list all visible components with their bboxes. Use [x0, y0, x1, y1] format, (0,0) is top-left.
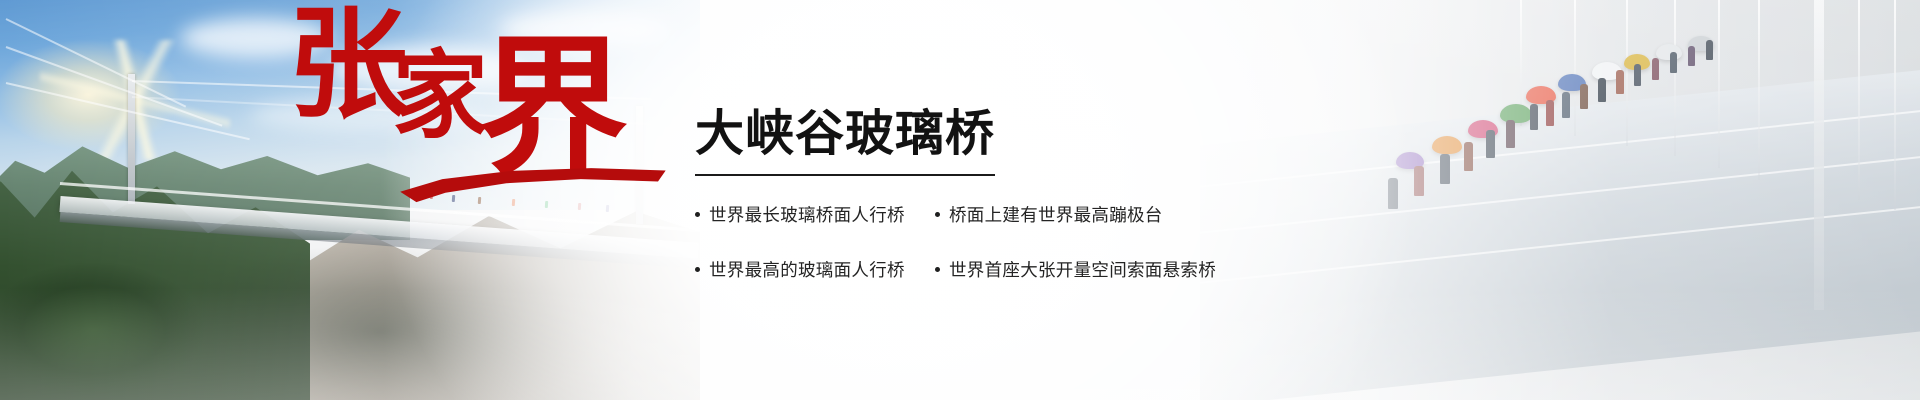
- bullet-dot-icon: [695, 267, 700, 272]
- page-title: 大峡谷玻璃桥: [695, 108, 1215, 160]
- list-item-label: 世界最长玻璃桥面人行桥: [709, 202, 905, 227]
- banner-content: 张 家 界 大峡谷玻璃桥 世界最长玻璃桥面人行桥 桥面上建有世界最高蹦极台 世界…: [0, 0, 1920, 400]
- promo-banner: 张 家 界 大峡谷玻璃桥 世界最长玻璃桥面人行桥 桥面上建有世界最高蹦极台 世界…: [0, 0, 1920, 400]
- list-item: 桥面上建有世界最高蹦极台: [935, 202, 1216, 227]
- title-divider: [695, 174, 995, 176]
- list-item-label: 世界首座大张开量空间索面悬索桥: [949, 257, 1216, 282]
- brand-char-zhang: 张: [288, 6, 408, 126]
- brand-calligraphy: 张 家 界: [288, 6, 658, 194]
- brand-char-jie: 界: [478, 34, 628, 184]
- list-item: 世界最长玻璃桥面人行桥: [695, 202, 927, 227]
- list-item-label: 桥面上建有世界最高蹦极台: [949, 202, 1163, 227]
- list-item: 世界最高的玻璃面人行桥: [695, 257, 927, 282]
- bullet-dot-icon: [935, 212, 940, 217]
- bullet-dot-icon: [935, 267, 940, 272]
- list-item-label: 世界最高的玻璃面人行桥: [709, 257, 905, 282]
- bullet-dot-icon: [695, 212, 700, 217]
- brand-char-jia: 家: [392, 48, 488, 144]
- info-block: 大峡谷玻璃桥 世界最长玻璃桥面人行桥 桥面上建有世界最高蹦极台 世界最高的玻璃面…: [695, 108, 1215, 282]
- list-item: 世界首座大张开量空间索面悬索桥: [935, 257, 1216, 282]
- feature-list: 世界最长玻璃桥面人行桥 桥面上建有世界最高蹦极台 世界最高的玻璃面人行桥 世界首…: [695, 202, 1215, 282]
